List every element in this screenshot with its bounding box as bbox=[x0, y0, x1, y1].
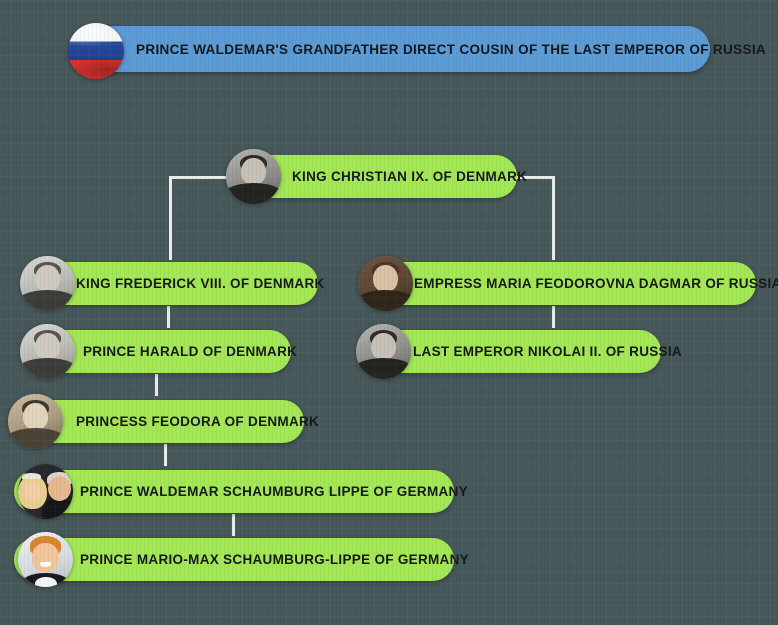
node-label: KING FREDERICK VIII. OF DENMARK bbox=[76, 276, 325, 291]
portrait-prince-waldemar-couple-icon bbox=[18, 464, 73, 519]
connector-feodora-to-waldemar bbox=[164, 444, 167, 466]
connector-maria-to-nikolai2 bbox=[552, 306, 555, 328]
title-banner: PRINCE WALDEMAR'S GRANDFATHER DIRECT COU… bbox=[90, 26, 710, 72]
russian-flag-roundel-icon bbox=[68, 23, 124, 79]
connector-christian9-to-frederick8 bbox=[169, 176, 172, 260]
node-label: LAST EMPEROR NIKOLAI II. OF RUSSIA bbox=[413, 344, 682, 359]
node-label: PRINCESS FEODORA OF DENMARK bbox=[76, 414, 319, 429]
connector-christian9-to-maria bbox=[552, 176, 555, 260]
node-label: EMPRESS MARIA FEODOROVNA DAGMAR OF RUSSI… bbox=[414, 276, 778, 291]
connector-waldemar-to-mariomax bbox=[232, 514, 235, 536]
portrait-king-christian-ix-icon bbox=[226, 149, 281, 204]
portrait-king-frederick-viii-icon bbox=[20, 256, 75, 311]
node-label: PRINCE MARIO-MAX SCHAUMBURG-LIPPE OF GER… bbox=[80, 552, 469, 567]
portrait-princess-feodora-icon bbox=[8, 394, 63, 449]
node-prince-mario-max[interactable]: PRINCE MARIO-MAX SCHAUMBURG-LIPPE OF GER… bbox=[14, 538, 454, 581]
connector-harald-to-feodora bbox=[155, 374, 158, 396]
node-label: KING CHRISTIAN IX. OF DENMARK bbox=[292, 169, 527, 184]
node-empress-maria-feodorovna[interactable]: EMPRESS MARIA FEODOROVNA DAGMAR OF RUSSI… bbox=[366, 262, 756, 305]
portrait-emperor-nikolai-ii-icon bbox=[356, 324, 411, 379]
portrait-empress-maria-feodorovna-icon bbox=[358, 256, 413, 311]
portrait-prince-harald-icon bbox=[20, 324, 75, 379]
connector-frederick8-to-harald bbox=[167, 306, 170, 328]
portrait-prince-mario-max-icon bbox=[18, 532, 73, 587]
node-label: PRINCE HARALD OF DENMARK bbox=[83, 344, 297, 359]
node-label: PRINCE WALDEMAR SCHAUMBURG LIPPE OF GERM… bbox=[80, 484, 468, 499]
family-tree-diagram: PRINCE WALDEMAR'S GRANDFATHER DIRECT COU… bbox=[0, 0, 778, 625]
title-banner-label: PRINCE WALDEMAR'S GRANDFATHER DIRECT COU… bbox=[136, 42, 766, 57]
node-prince-waldemar[interactable]: PRINCE WALDEMAR SCHAUMBURG LIPPE OF GERM… bbox=[14, 470, 454, 513]
